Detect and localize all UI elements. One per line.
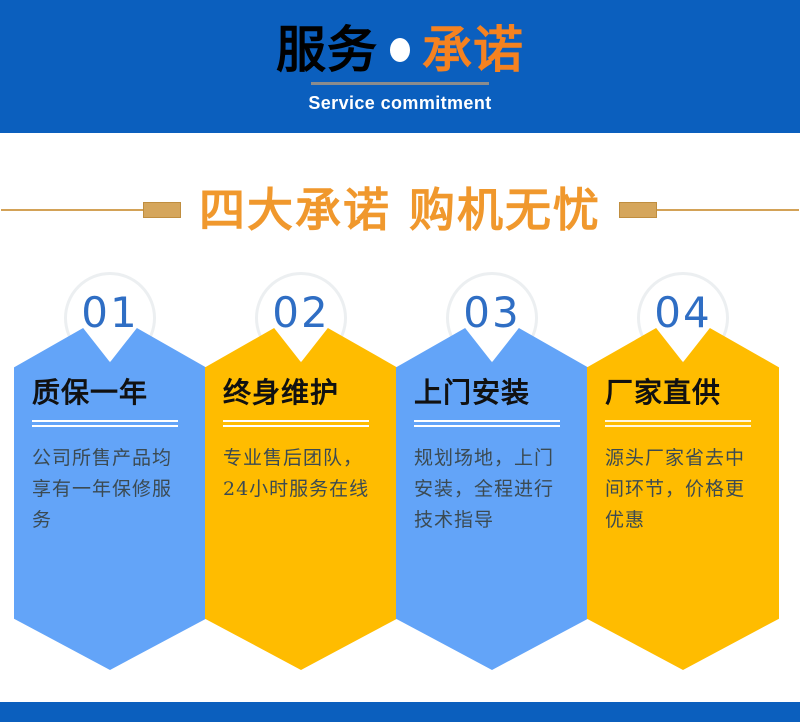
card-description: 源头厂家省去中间环节，价格更优惠: [605, 443, 761, 537]
promise-card: 03 上门安装 规划场地，上门安装，全程进行技术指导: [396, 270, 588, 670]
promise-card: 04 厂家直供 源头厂家省去中间环节，价格更优惠: [587, 270, 779, 670]
header-title-orange: 承诺: [422, 25, 524, 75]
card-heading: 厂家直供: [605, 378, 761, 409]
deco-block-segment: [143, 202, 181, 218]
card-description: 公司所售产品均享有一年保修服务: [32, 443, 188, 537]
card-heading: 终身维护: [223, 378, 379, 409]
section-title-row: 四大承诺 购机无忧: [0, 170, 800, 250]
card-body: 质保一年 公司所售产品均享有一年保修服务: [14, 378, 206, 537]
footer-band: [0, 702, 800, 722]
promise-card: 02 终身维护 专业售后团队，24小时服务在线: [205, 270, 397, 670]
card-number: 02: [205, 292, 397, 334]
header-band: 服务 承诺 Service commitment: [0, 0, 800, 133]
bullet-dot-icon: [390, 38, 410, 62]
card-number: 03: [396, 292, 588, 334]
header-title-black: 服务: [276, 25, 378, 75]
header-title-row: 服务 承诺: [276, 22, 524, 78]
header-subtitle-english: Service commitment: [308, 93, 491, 114]
card-body: 上门安装 规划场地，上门安装，全程进行技术指导: [396, 378, 588, 537]
decorative-line-right: [619, 202, 799, 218]
card-heading: 质保一年: [32, 378, 188, 409]
card-divider: [32, 420, 178, 427]
card-body: 厂家直供 源头厂家省去中间环节，价格更优惠: [587, 378, 779, 537]
deco-line-segment: [1, 209, 143, 211]
header-content: 服务 承诺 Service commitment: [0, 0, 800, 133]
promise-card-list: 01 质保一年 公司所售产品均享有一年保修服务 02 终身维护 专业售后团队，2…: [0, 270, 800, 670]
deco-block-segment: [619, 202, 657, 218]
card-divider: [605, 420, 751, 427]
card-divider: [414, 420, 560, 427]
deco-line-segment: [657, 209, 799, 211]
promise-card: 01 质保一年 公司所售产品均享有一年保修服务: [14, 270, 206, 670]
card-body: 终身维护 专业售后团队，24小时服务在线: [205, 378, 397, 505]
header-underline-rule: [311, 82, 489, 85]
card-heading: 上门安装: [414, 378, 570, 409]
card-divider: [223, 420, 369, 427]
decorative-line-left: [1, 202, 181, 218]
card-number: 01: [14, 292, 206, 334]
card-number: 04: [587, 292, 779, 334]
card-description: 专业售后团队，24小时服务在线: [223, 443, 379, 506]
card-description: 规划场地，上门安装，全程进行技术指导: [414, 443, 570, 537]
section-title: 四大承诺 购机无忧: [199, 187, 601, 233]
